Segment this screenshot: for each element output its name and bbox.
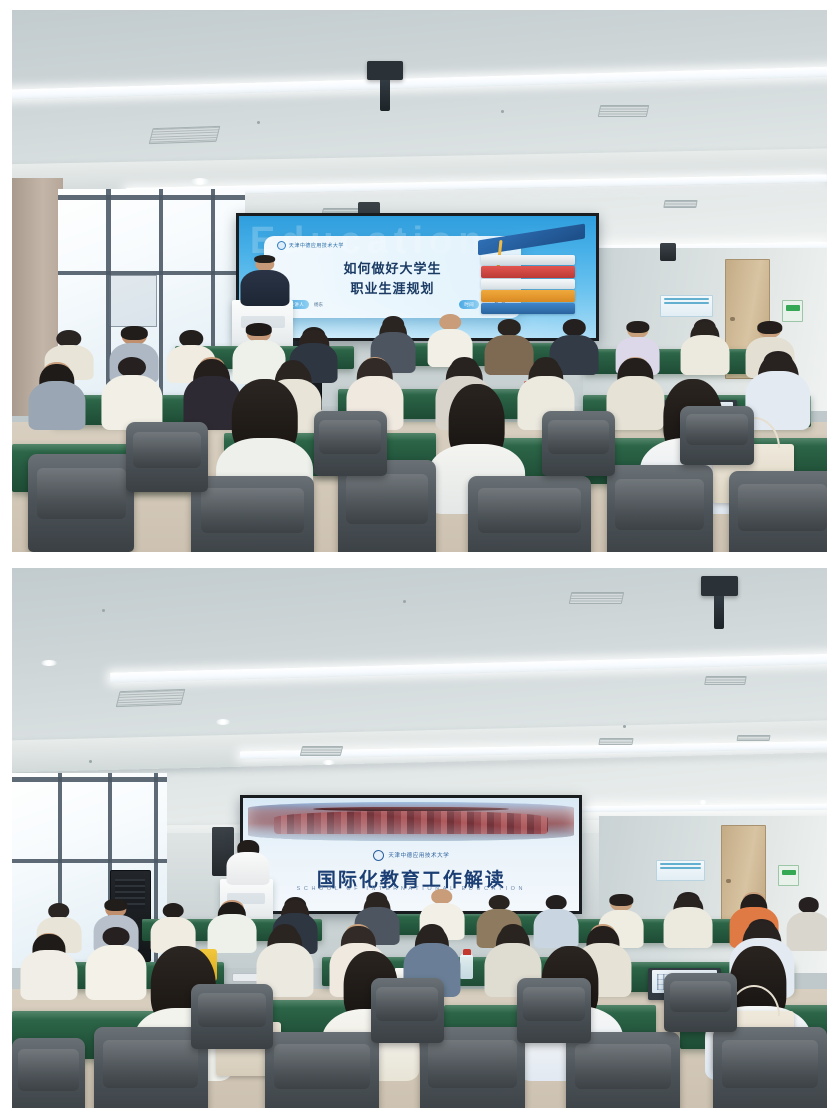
attendee [746, 351, 811, 427]
ceiling-air-vent [569, 592, 624, 604]
wall-information-sign [660, 295, 713, 318]
attendee [28, 362, 85, 427]
chair [28, 454, 134, 552]
wall-speaker [660, 243, 676, 261]
chair [191, 984, 273, 1049]
chair [566, 1032, 680, 1108]
chair [371, 978, 444, 1043]
ceiling-downlight [322, 760, 335, 765]
attendee [208, 900, 257, 951]
chair [314, 411, 387, 476]
window-reflection [108, 275, 157, 326]
ceiling-air-vent [737, 735, 771, 741]
slide-subtitle: SCHOOL OF INTERNATIONAL EDUCATION [243, 886, 579, 892]
window-mullion [12, 859, 167, 863]
campus-photo-banner [248, 802, 574, 840]
ceiling-downlight [697, 800, 709, 805]
ceiling-air-vent [704, 676, 746, 685]
ceiling-air-vent [663, 200, 697, 208]
university-emblem-icon [373, 850, 384, 861]
slide-international-education: 天津中德应用技术大学 国际化教育工作解读 SCHOOL OF INTERNATI… [243, 798, 579, 911]
male-presenter [236, 257, 293, 306]
ceiling-projector [701, 576, 738, 595]
chair [126, 422, 208, 492]
ceiling-air-vent [300, 746, 343, 756]
book-icon [481, 303, 576, 314]
attendee [151, 903, 196, 952]
window-mullion [12, 777, 167, 782]
university-name: 天津中德应用技术大学 [289, 242, 344, 249]
door-handle[interactable] [730, 317, 734, 322]
book-icon [481, 266, 576, 277]
graduation-cap-icon [478, 223, 585, 255]
emergency-exit-sign [782, 300, 803, 322]
chair [729, 471, 827, 552]
ceiling-air-vent [598, 105, 649, 117]
university-name: 天津中德应用技术大学 [388, 851, 449, 859]
presenter-torso [240, 270, 289, 307]
chair [542, 411, 615, 476]
ceiling-air-vent [148, 125, 220, 144]
water-bottle [460, 954, 473, 979]
door-handle[interactable] [726, 879, 730, 883]
university-logo: 天津中德应用技术大学 [277, 241, 344, 250]
slide-speaker-name: 杨东 [314, 302, 323, 308]
attendee [20, 933, 77, 998]
chair [680, 406, 753, 466]
chair [265, 1032, 379, 1108]
photo-international-education-lecture: 天津中德应用技术大学 国际化教育工作解读 SCHOOL OF INTERNATI… [12, 568, 827, 1108]
chair [468, 476, 590, 552]
presenter-torso [227, 852, 270, 885]
attendee [664, 892, 713, 946]
screen-surface: 天津中德应用技术大学 国际化教育工作解读 SCHOOL OF INTERNATI… [243, 798, 579, 911]
chair [191, 476, 313, 552]
emergency-exit-sign [778, 865, 799, 886]
book-icon [481, 255, 576, 265]
university-emblem-icon [277, 241, 286, 250]
female-presenter [224, 841, 273, 884]
sprinkler-head [257, 121, 260, 124]
chair [713, 1027, 827, 1108]
lecture-hall-scene-1: Education 天津中德应用技术大学 如何做好大学生 职业生涯规划 [12, 10, 827, 552]
wall-information-sign [656, 860, 705, 882]
led-video-wall: 天津中德应用技术大学 国际化教育工作解读 SCHOOL OF INTERNATI… [240, 795, 582, 914]
photo-career-planning-lecture: Education 天津中德应用技术大学 如何做好大学生 职业生涯规划 [12, 10, 827, 552]
lecture-hall-scene-2: 天津中德应用技术大学 国际化教育工作解读 SCHOOL OF INTERNATI… [12, 568, 827, 1108]
window-mullion [58, 195, 245, 200]
ceiling-air-vent [598, 738, 633, 745]
chair [664, 973, 737, 1032]
campus-photo-glare [248, 802, 574, 840]
attendee [680, 319, 729, 373]
university-logo: 天津中德应用技术大学 [243, 850, 579, 861]
book-icon [481, 279, 576, 289]
attendee [102, 357, 163, 427]
presenter-hair [254, 255, 276, 263]
ceiling-projector [367, 61, 403, 79]
chair [517, 978, 590, 1043]
photo-page: Education 天津中德应用技术大学 如何做好大学生 职业生涯规划 [0, 0, 839, 1119]
chair [607, 465, 713, 552]
book-icon [481, 290, 576, 301]
chair [12, 1038, 85, 1108]
graduation-books-graphic [471, 224, 592, 328]
ceiling-air-vent [116, 688, 186, 706]
